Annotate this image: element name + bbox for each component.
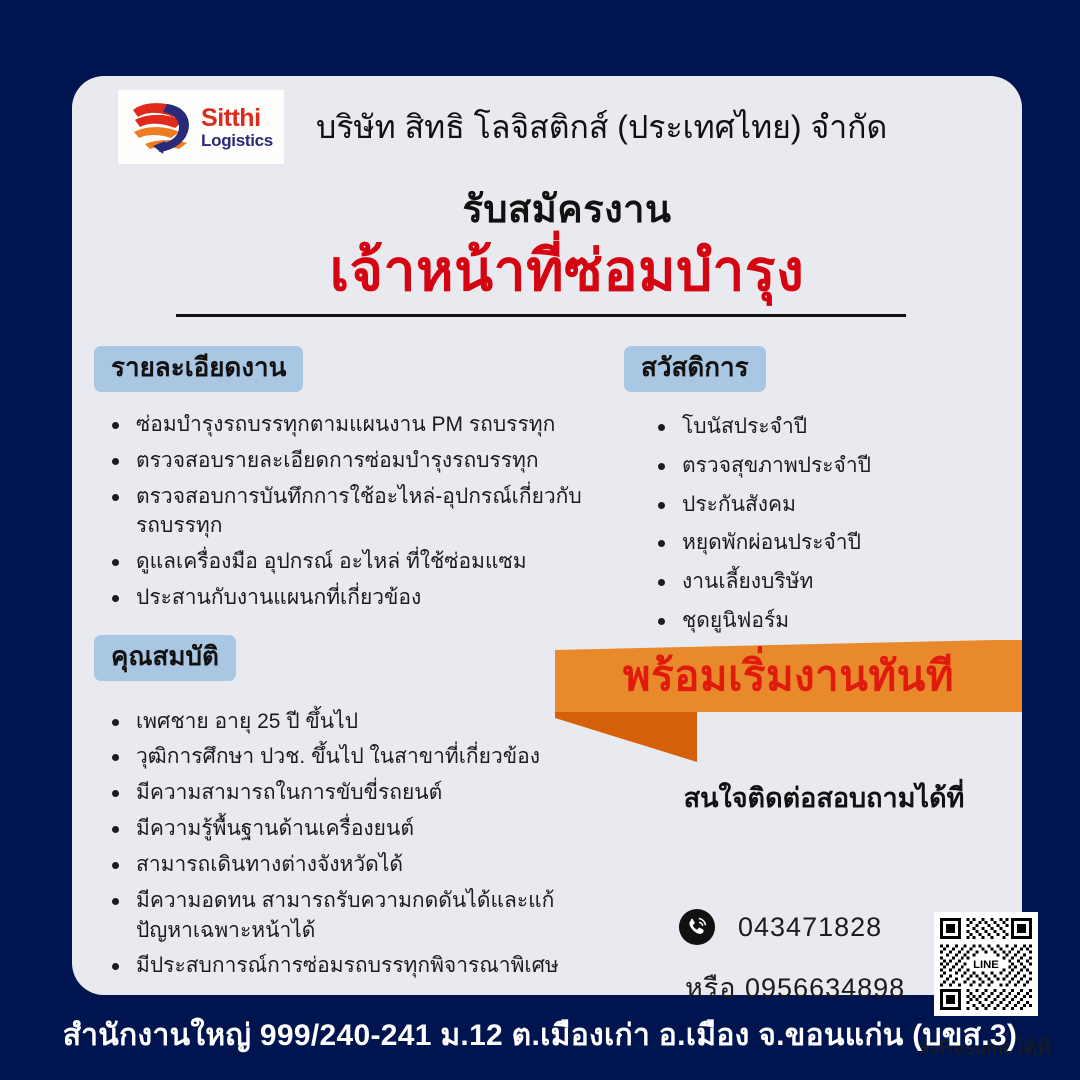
list-item: ดูแลเครื่องมือ อุปกรณ์ อะไหล่ ที่ใช้ซ่อม… — [108, 547, 604, 577]
logo-text-sitthi: Sitthi — [201, 106, 273, 131]
list-item: ประกันสังคม — [654, 490, 1004, 520]
list-item: โบนัสประจำปี — [654, 412, 1004, 442]
line-qr-code[interactable]: LINE — [934, 912, 1038, 1016]
qr-line-label: LINE — [973, 959, 999, 971]
list-item: มีความสามารถในการขับขี่รถยนต์ — [108, 778, 604, 808]
footer-address: สำนักงานใหญ่ 999/240-241 ม.12 ต.เมืองเก่… — [0, 1012, 1080, 1059]
qualifications-list: เพศชาย อายุ 25 ปี ขึ้นไป วุฒิการศึกษา ปว… — [108, 707, 604, 982]
job-details-list: ซ่อมบำรุงรถบรรทุกตามแผนงาน PM รถบรรทุก ต… — [108, 410, 604, 613]
qualifications-heading: คุณสมบัติ — [94, 635, 236, 681]
alternate-phone-number: หรือ 0956634898 — [685, 966, 905, 1009]
list-item: หยุดพักผ่อนประจำปี — [654, 528, 1004, 558]
list-item: สามารถเดินทางต่างจังหวัดได้ — [108, 850, 604, 880]
list-item: งานเลี้ยงบริษัท — [654, 567, 1004, 597]
benefits-heading: สวัสดิการ — [624, 346, 766, 392]
list-item: ตรวจสอบการบันทึกการใช้อะไหล่-อุปกรณ์เกี่… — [108, 482, 604, 542]
qualifications-section: คุณสมบัติ เพศชาย อายุ 25 ปี ขึ้นไป วุฒิก… — [94, 635, 604, 981]
position-title: เจ้าหน้าที่ซ่อมบำรุง — [72, 226, 1022, 316]
job-details-section: รายละเอียดงาน ซ่อมบำรุงรถบรรทุกตามแผนงาน… — [94, 346, 604, 613]
job-poster: Sitthi Logistics บริษัท สิทธิ โลจิสติกส์… — [0, 0, 1080, 1080]
list-item: วุฒิการศึกษา ปวช. ขึ้นไป ในสาขาที่เกี่ยว… — [108, 742, 604, 772]
header-divider — [176, 314, 906, 317]
job-details-heading: รายละเอียดงาน — [94, 346, 303, 392]
ribbon-label: พร้อมเริ่มงานทันที — [555, 640, 1022, 712]
qr-code-icon: LINE — [937, 915, 1035, 1013]
phone-contact[interactable]: 043471828 — [678, 908, 882, 946]
benefits-section: สวัสดิการ โบนัสประจำปี ตรวจสุขภาพประจำปี… — [624, 346, 1004, 636]
phone-number: 043471828 — [738, 912, 882, 943]
right-column: สวัสดิการ โบนัสประจำปี ตรวจสุขภาพประจำปี… — [624, 346, 1004, 645]
logo-wordmark: Sitthi Logistics — [201, 106, 273, 149]
phone-icon — [678, 908, 716, 946]
list-item: มีความอดทน สามารถรับความกดดันได้และแก้ปั… — [108, 886, 604, 946]
list-item: ตรวจสอบรายละเอียดการซ่อมบำรุงรถบรรทุก — [108, 446, 604, 476]
left-column: รายละเอียดงาน ซ่อมบำรุงรถบรรทุกตามแผนงาน… — [94, 346, 604, 987]
company-name: บริษัท สิทธิ โลจิสติกส์ (ประเทศไทย) จำกั… — [316, 102, 887, 153]
list-item: ซ่อมบำรุงรถบรรทุกตามแผนงาน PM รถบรรทุก — [108, 410, 604, 440]
logo-text-logistics: Logistics — [201, 132, 273, 149]
contact-title: สนใจติดต่อสอบถามได้ที่ — [624, 776, 1024, 819]
list-item: มีความรู้พื้นฐานด้านเครื่องยนต์ — [108, 814, 604, 844]
list-item: มีประสบการณ์การซ่อมรถบรรทุกพิจารณาพิเศษ — [108, 951, 604, 981]
benefits-list: โบนัสประจำปี ตรวจสุขภาพประจำปี ประกันสัง… — [654, 412, 1004, 636]
list-item: ตรวจสุขภาพประจำปี — [654, 451, 1004, 481]
content-card: Sitthi Logistics บริษัท สิทธิ โลจิสติกส์… — [72, 76, 1022, 995]
list-item: ประสานกับงานแผนกที่เกี่ยวข้อง — [108, 583, 604, 613]
company-logo: Sitthi Logistics บริษัท สิทธิ โลจิสติกส์… — [118, 90, 887, 164]
sitthi-swoosh-icon — [129, 96, 199, 158]
logo-lockup: Sitthi Logistics — [118, 90, 284, 164]
list-item: เพศชาย อายุ 25 ปี ขึ้นไป — [108, 707, 604, 737]
list-item: ชุดยูนิฟอร์ม — [654, 606, 1004, 636]
